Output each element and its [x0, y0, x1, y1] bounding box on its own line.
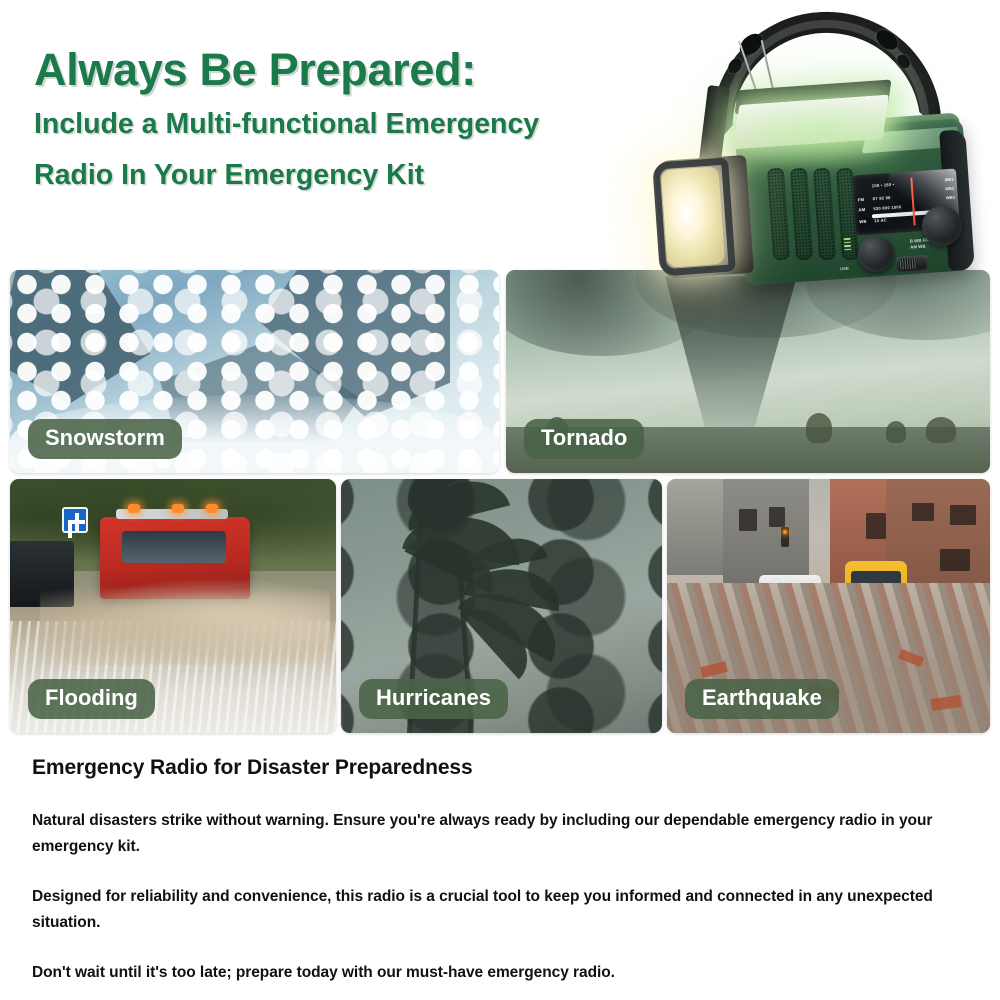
- dial-band-label-am: AM: [858, 207, 869, 213]
- fire-truck-windshield: [122, 531, 226, 563]
- emergency-beacon: [206, 504, 218, 513]
- tree: [806, 413, 832, 443]
- tile-label-earthquake: Earthquake: [685, 679, 839, 719]
- dial-band-label-fm: FM: [858, 197, 869, 203]
- headline-block: Always Be Prepared: Include a Multi-func…: [34, 46, 674, 196]
- hospital-sign-icon: [62, 507, 88, 533]
- radio-illustration: 108 • 160 • FM 87 92 98 AM 530 800 1000 …: [648, 8, 996, 358]
- usb-port-label: USB: [840, 266, 849, 272]
- tile-label-tornado: Tornado: [524, 419, 644, 459]
- tree: [886, 421, 906, 443]
- building-window: [769, 507, 785, 527]
- dial-band-label-wb: WB: [859, 219, 870, 225]
- dial-band-label: [857, 186, 868, 187]
- emergency-beacon: [128, 504, 140, 513]
- tuning-knob: [922, 206, 962, 246]
- tree: [926, 417, 956, 443]
- emergency-beacon: [172, 504, 184, 513]
- building-window: [940, 549, 970, 571]
- product-image-emergency-radio: 108 • 160 • FM 87 92 98 AM 530 800 1000 …: [648, 8, 996, 358]
- sign-cross-bar: [69, 520, 85, 524]
- page-subtitle-line-2: Radio In Your Emergency Kit: [34, 155, 674, 196]
- description-paragraph-3: Don't wait until it's too late; prepare …: [32, 960, 968, 986]
- battery-indicator: [844, 238, 852, 253]
- page-title: Always Be Prepared:: [34, 46, 674, 94]
- description-paragraph-1: Natural disasters strike without warning…: [32, 808, 968, 859]
- tile-label-snowstorm: Snowstorm: [28, 419, 182, 459]
- damaged-building: [667, 479, 727, 575]
- mode-label-line-2: AM WB: [910, 244, 926, 250]
- building-window: [739, 509, 757, 531]
- disaster-tile-hurricanes[interactable]: Hurricanes: [341, 479, 662, 733]
- traffic-light-icon: [781, 527, 789, 547]
- tile-label-flooding: Flooding: [28, 679, 155, 719]
- disaster-tile-flooding[interactable]: Flooding: [10, 479, 336, 733]
- description-paragraph-2: Designed for reliability and convenience…: [32, 884, 968, 935]
- building-window: [866, 513, 886, 539]
- flashlight-rim: [652, 157, 736, 276]
- building-window: [912, 503, 934, 521]
- tile-label-hurricanes: Hurricanes: [359, 679, 508, 719]
- volume-knob: [858, 236, 894, 272]
- building-window: [950, 505, 976, 525]
- description-section: Emergency Radio for Disaster Preparednes…: [32, 756, 968, 986]
- water-splash: [40, 579, 330, 665]
- page-subtitle-line-1: Include a Multi-functional Emergency: [34, 104, 674, 145]
- section-heading: Emergency Radio for Disaster Preparednes…: [32, 756, 968, 780]
- disaster-tile-snowstorm[interactable]: Snowstorm: [10, 270, 499, 473]
- disaster-tile-earthquake[interactable]: Earthquake: [667, 479, 990, 733]
- band-selector-ridges: [900, 257, 917, 269]
